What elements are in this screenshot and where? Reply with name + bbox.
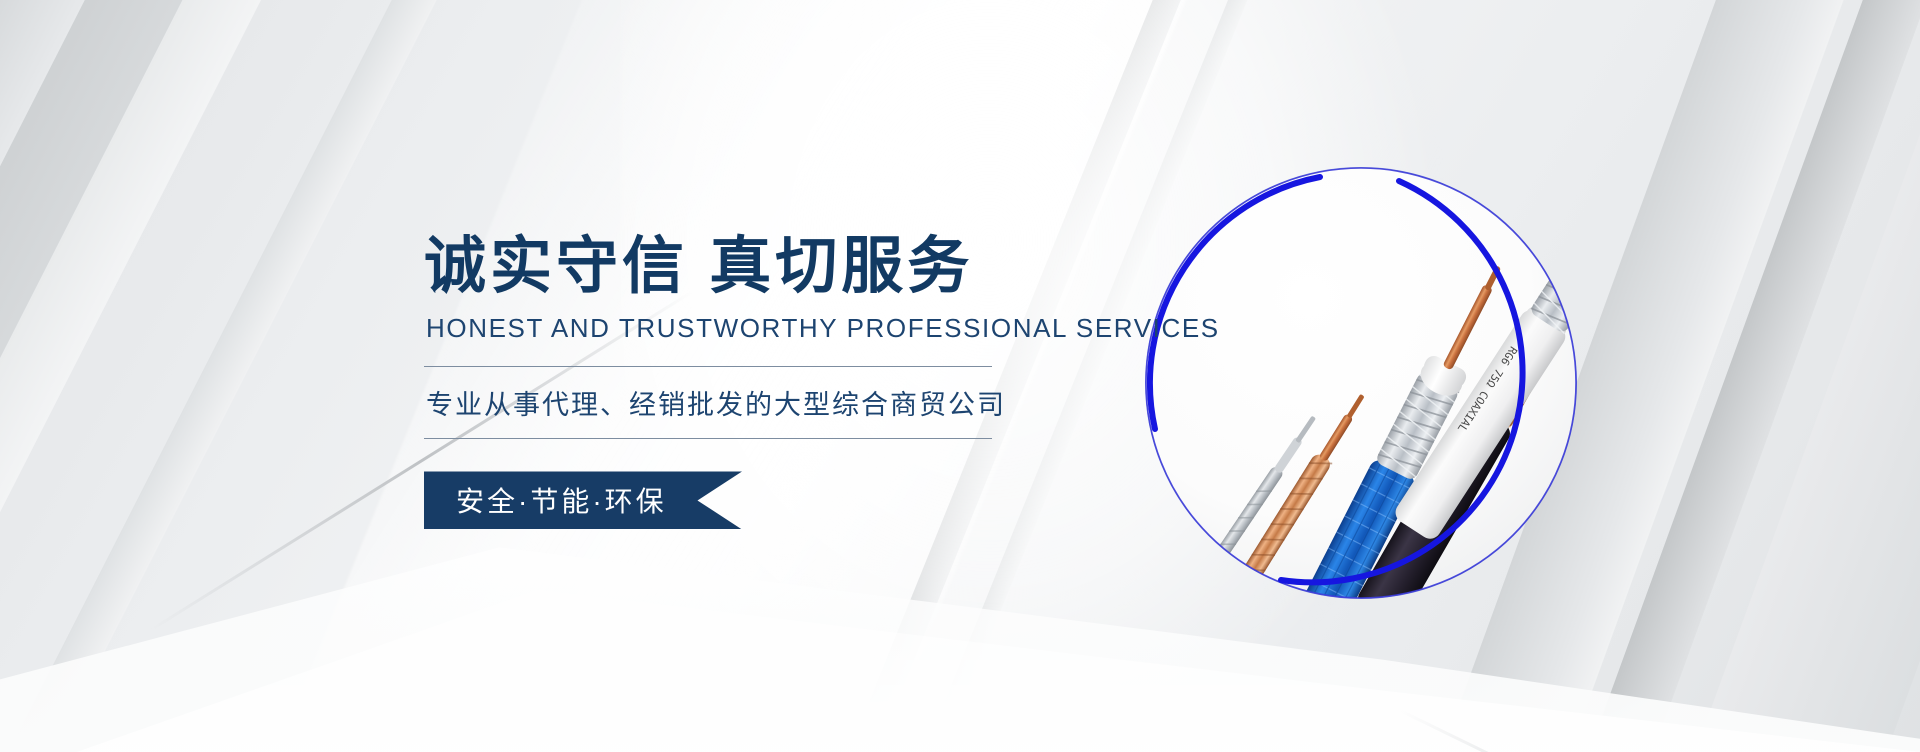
ribbon-label: 安全·节能·环保: [456, 471, 667, 529]
divider-top: [424, 366, 992, 367]
banner-text-block: 诚实守信 真切服务 HONEST AND TRUSTWORTHY PROFESS…: [424, 232, 1124, 529]
banner-subtitle-chinese: 专业从事代理、经销批发的大型综合商贸公司: [426, 383, 1124, 422]
divider-bottom: [424, 438, 992, 439]
hero-banner: 诚实守信 真切服务 HONEST AND TRUSTWORTHY PROFESS…: [0, 0, 1920, 752]
product-circle: RG6 75Ω COAXIAL: [1128, 150, 1594, 616]
product-photo: RG6 75Ω COAXIAL: [1146, 168, 1576, 598]
banner-headline: 诚实守信 真切服务: [424, 232, 1124, 301]
feature-ribbon: 安全·节能·环保: [424, 471, 742, 529]
banner-subtitle-english: HONEST AND TRUSTWORTHY PROFESSIONAL SERV…: [426, 313, 1124, 344]
